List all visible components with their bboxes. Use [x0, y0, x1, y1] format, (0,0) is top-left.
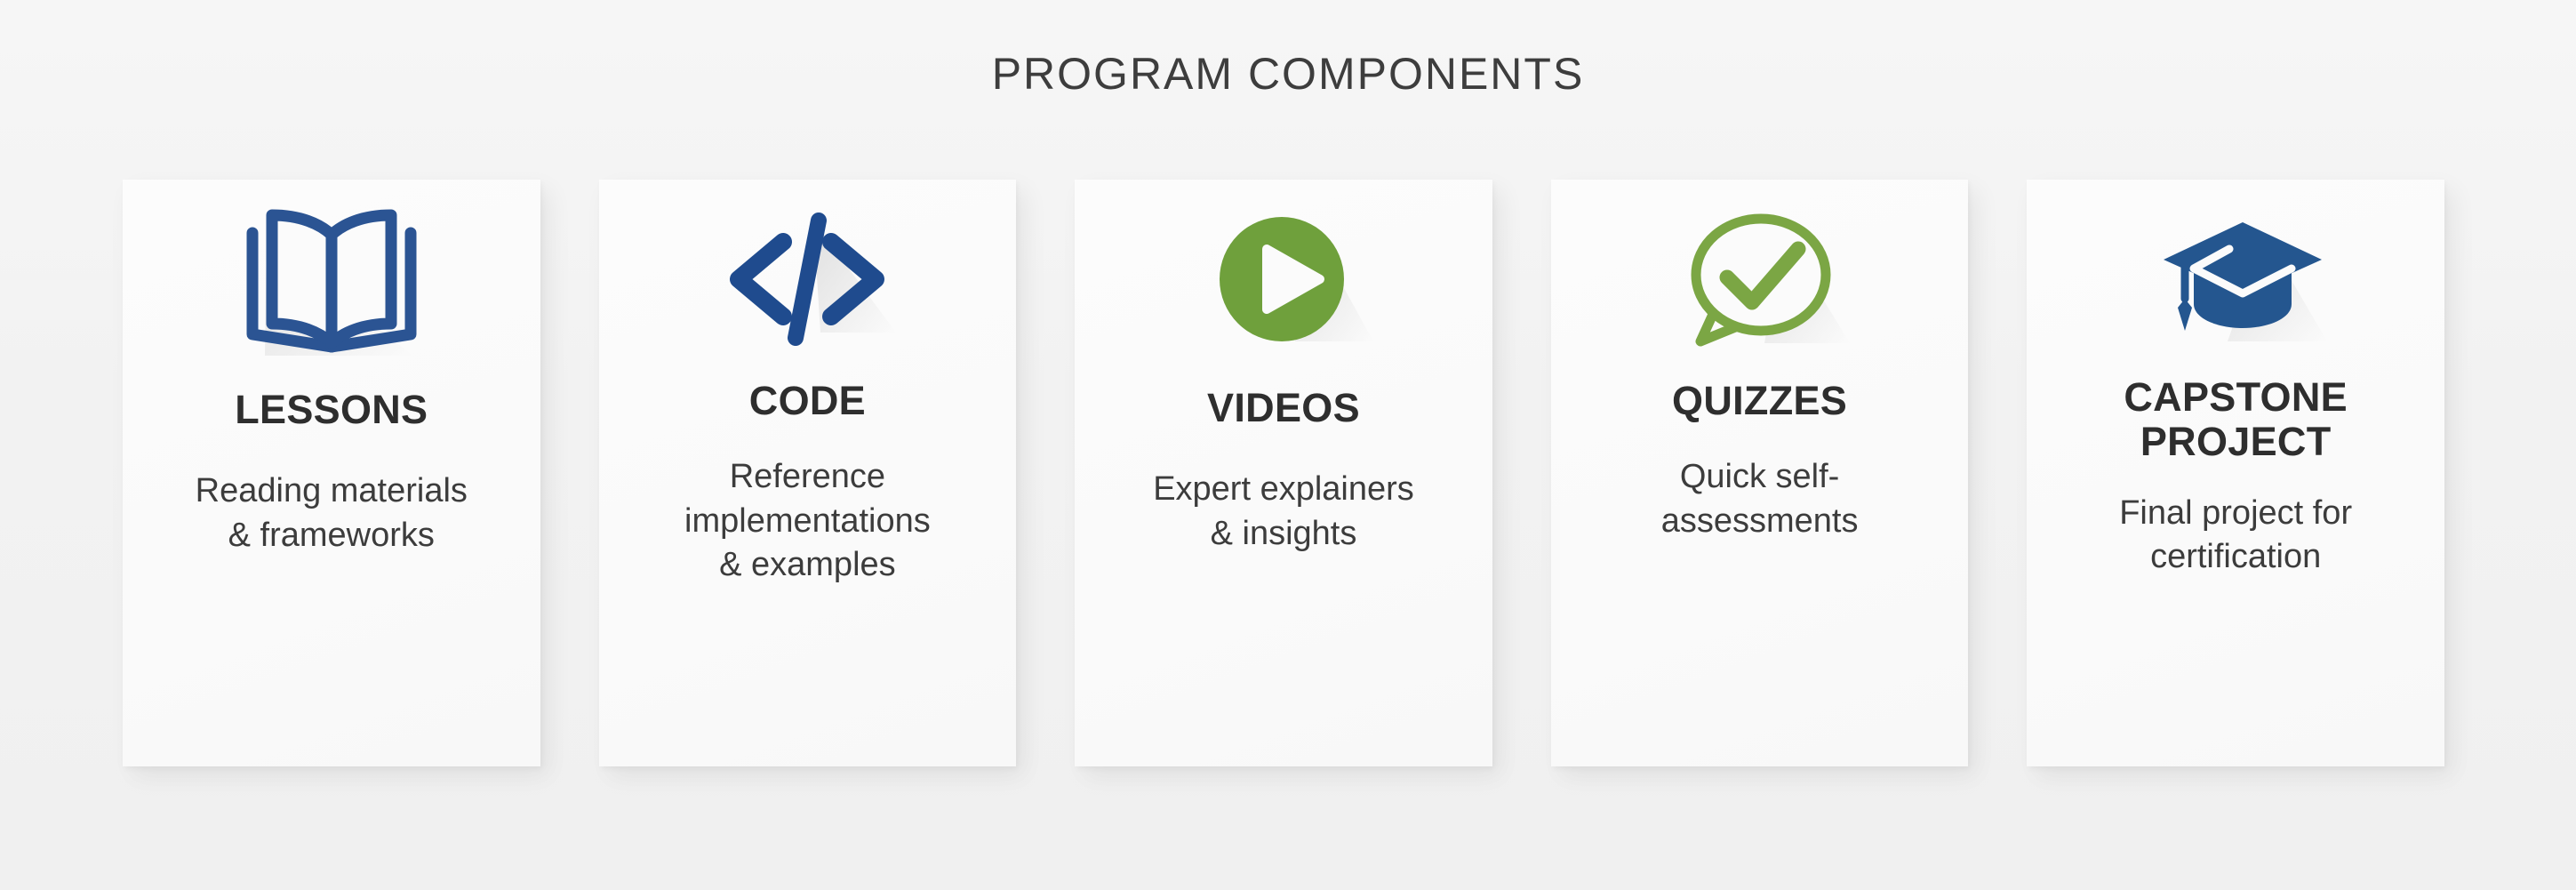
graduation-cap-icon	[2041, 180, 2430, 379]
card-title: LESSONS	[235, 388, 428, 432]
card-title: VIDEOS	[1207, 386, 1360, 430]
card-description: Reading materials & frameworks	[196, 469, 468, 557]
component-card-capstone-project[interactable]: CAPSTONE PROJECT Final project for certi…	[2027, 180, 2444, 766]
card-description: Quick self- assessments	[1661, 455, 1859, 543]
component-card-lessons[interactable]: LESSONS Reading materials & frameworks	[123, 180, 540, 766]
infographic-canvas: PROGRAM COMPONENTS	[0, 0, 2576, 890]
component-card-videos[interactable]: VIDEOS Expert explainers & insights	[1075, 180, 1492, 766]
card-title: QUIZZES	[1672, 379, 1847, 423]
component-card-code[interactable]: CODE Reference implementations & example…	[599, 180, 1017, 766]
open-book-icon	[137, 180, 526, 379]
card-title: CODE	[749, 379, 866, 423]
page-title: PROGRAM COMPONENTS	[0, 50, 2576, 99]
card-title: CAPSTONE PROJECT	[2124, 375, 2348, 465]
card-description: Final project for certification	[2119, 492, 2352, 580]
code-brackets-icon	[613, 180, 1003, 379]
program-components-card-row: LESSONS Reading materials & frameworks	[123, 180, 2444, 766]
card-description: Reference implementations & examples	[684, 455, 931, 587]
speech-bubble-check-icon	[1565, 180, 1955, 379]
component-card-quizzes[interactable]: QUIZZES Quick self- assessments	[1551, 180, 1969, 766]
play-circle-icon	[1089, 180, 1478, 379]
card-description: Expert explainers & insights	[1153, 468, 1414, 556]
